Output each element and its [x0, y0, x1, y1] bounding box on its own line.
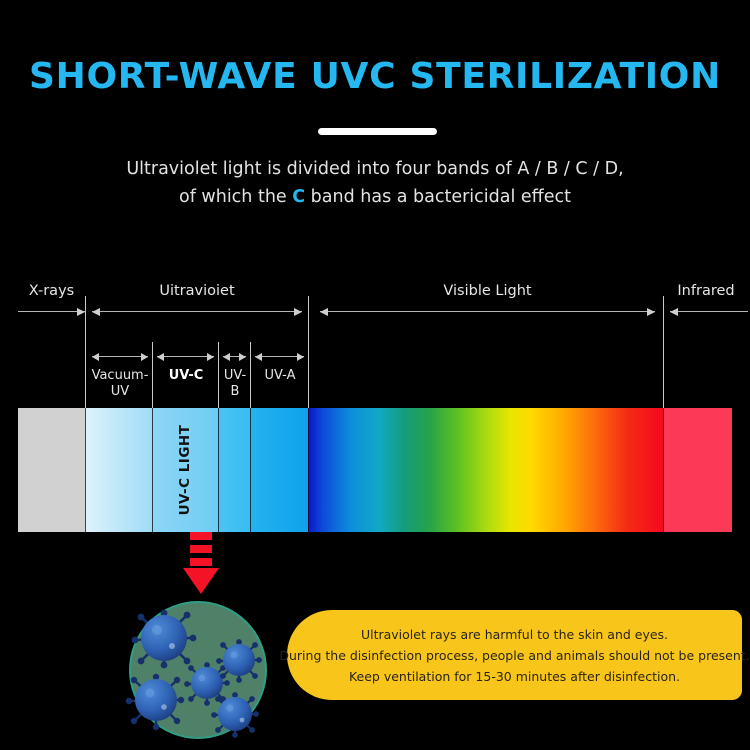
band-arrow-ultraviolet	[92, 311, 302, 312]
title-divider	[318, 128, 437, 135]
sub-band-label-uv-c: UV-C	[154, 368, 218, 384]
subtitle-line-2-before: of which the	[179, 187, 292, 207]
spectrum-segment-uv-a	[250, 408, 308, 532]
spectrum-chart: X-rays Uitravioiet Visible Light Infrare…	[0, 270, 750, 540]
sub-arrow-vacuum-uv	[92, 356, 148, 357]
subtitle-line-2: of which the C band has a bactericidal e…	[0, 183, 750, 211]
page-title: SHORT-WAVE UVC STERILIZATION	[0, 56, 750, 97]
divider-uvb-uva	[250, 342, 251, 410]
sub-band-label-uv-b-line2: B	[220, 384, 250, 400]
virus-particle-2	[126, 674, 184, 730]
arrow-dash-1	[190, 532, 212, 540]
warning-line-3: Keep ventilation for 15-30 minutes after…	[349, 666, 680, 687]
band-label-visible-light: Visible Light	[320, 283, 655, 299]
warning-line-1: Ultraviolet rays are harmful to the skin…	[361, 624, 668, 645]
arrow-dash-2	[190, 545, 212, 553]
sub-band-label-uv-b-line1: UV-	[220, 368, 250, 384]
subtitle-line-2-after: band has a bactericidal effect	[305, 187, 571, 207]
band-label-x-rays: X-rays	[18, 283, 85, 299]
virus-particle-4	[216, 639, 262, 683]
spectrum-segment-visible	[308, 408, 663, 532]
spectrum-segment-uv-b	[218, 408, 250, 532]
sub-band-label-uv-a: UV-A	[252, 368, 308, 384]
band-label-ultraviolet: Uitravioiet	[92, 283, 302, 299]
sub-band-label-vacuum-uv-line1: Vacuum-	[88, 368, 152, 384]
band-arrow-visible-light	[320, 311, 655, 312]
warning-callout: Ultraviolet rays are harmful to the skin…	[287, 610, 742, 700]
sub-arrow-uv-c	[157, 356, 214, 357]
arrow-dash-3	[190, 558, 212, 566]
uvc-light-label: UV-C LIGHT	[177, 425, 193, 516]
page-subtitle: Ultraviolet light is divided into four b…	[0, 155, 750, 211]
virus-particle-3	[184, 662, 230, 706]
band-arrow-infrared	[670, 311, 748, 312]
spectrum-bar: UV-C LIGHT	[18, 408, 732, 532]
sub-arrow-uv-a	[255, 356, 304, 357]
divider-uvc-uvb	[218, 342, 219, 410]
subtitle-highlight-c: C	[292, 187, 305, 207]
sub-band-label-uv-a-line1: UV-A	[252, 368, 308, 384]
spectrum-segment-infrared	[663, 408, 732, 532]
sub-arrow-uv-b	[223, 356, 246, 357]
band-arrow-x-rays	[18, 311, 85, 312]
subtitle-line-1: Ultraviolet light is divided into four b…	[0, 155, 750, 183]
spectrum-segment-vacuum-uv	[85, 408, 152, 532]
band-label-infrared: Infrared	[664, 283, 748, 299]
germ-illustration	[118, 588, 278, 748]
spectrum-segment-uv-c: UV-C LIGHT	[152, 408, 218, 532]
virus-particle-5	[211, 692, 259, 738]
uvc-sterilization-infographic: SHORT-WAVE UVC STERILIZATION Ultraviolet…	[0, 0, 750, 750]
virus-cluster-icon	[118, 588, 278, 748]
uvc-beam-arrow-icon	[183, 532, 219, 594]
warning-line-2: During the disinfection process, people …	[279, 645, 749, 666]
sub-band-label-uv-c-line1: UV-C	[154, 368, 218, 384]
divider-xrays-uv	[85, 296, 86, 410]
divider-visible-infrared	[663, 296, 664, 410]
sub-band-label-vacuum-uv-line2: UV	[88, 384, 152, 400]
spectrum-segment-x-rays	[18, 408, 85, 532]
sub-band-label-vacuum-uv: Vacuum- UV	[88, 368, 152, 400]
divider-uv-visible	[308, 296, 309, 410]
sub-band-label-uv-b: UV- B	[220, 368, 250, 400]
divider-vacuumuv-uvc	[152, 342, 153, 410]
